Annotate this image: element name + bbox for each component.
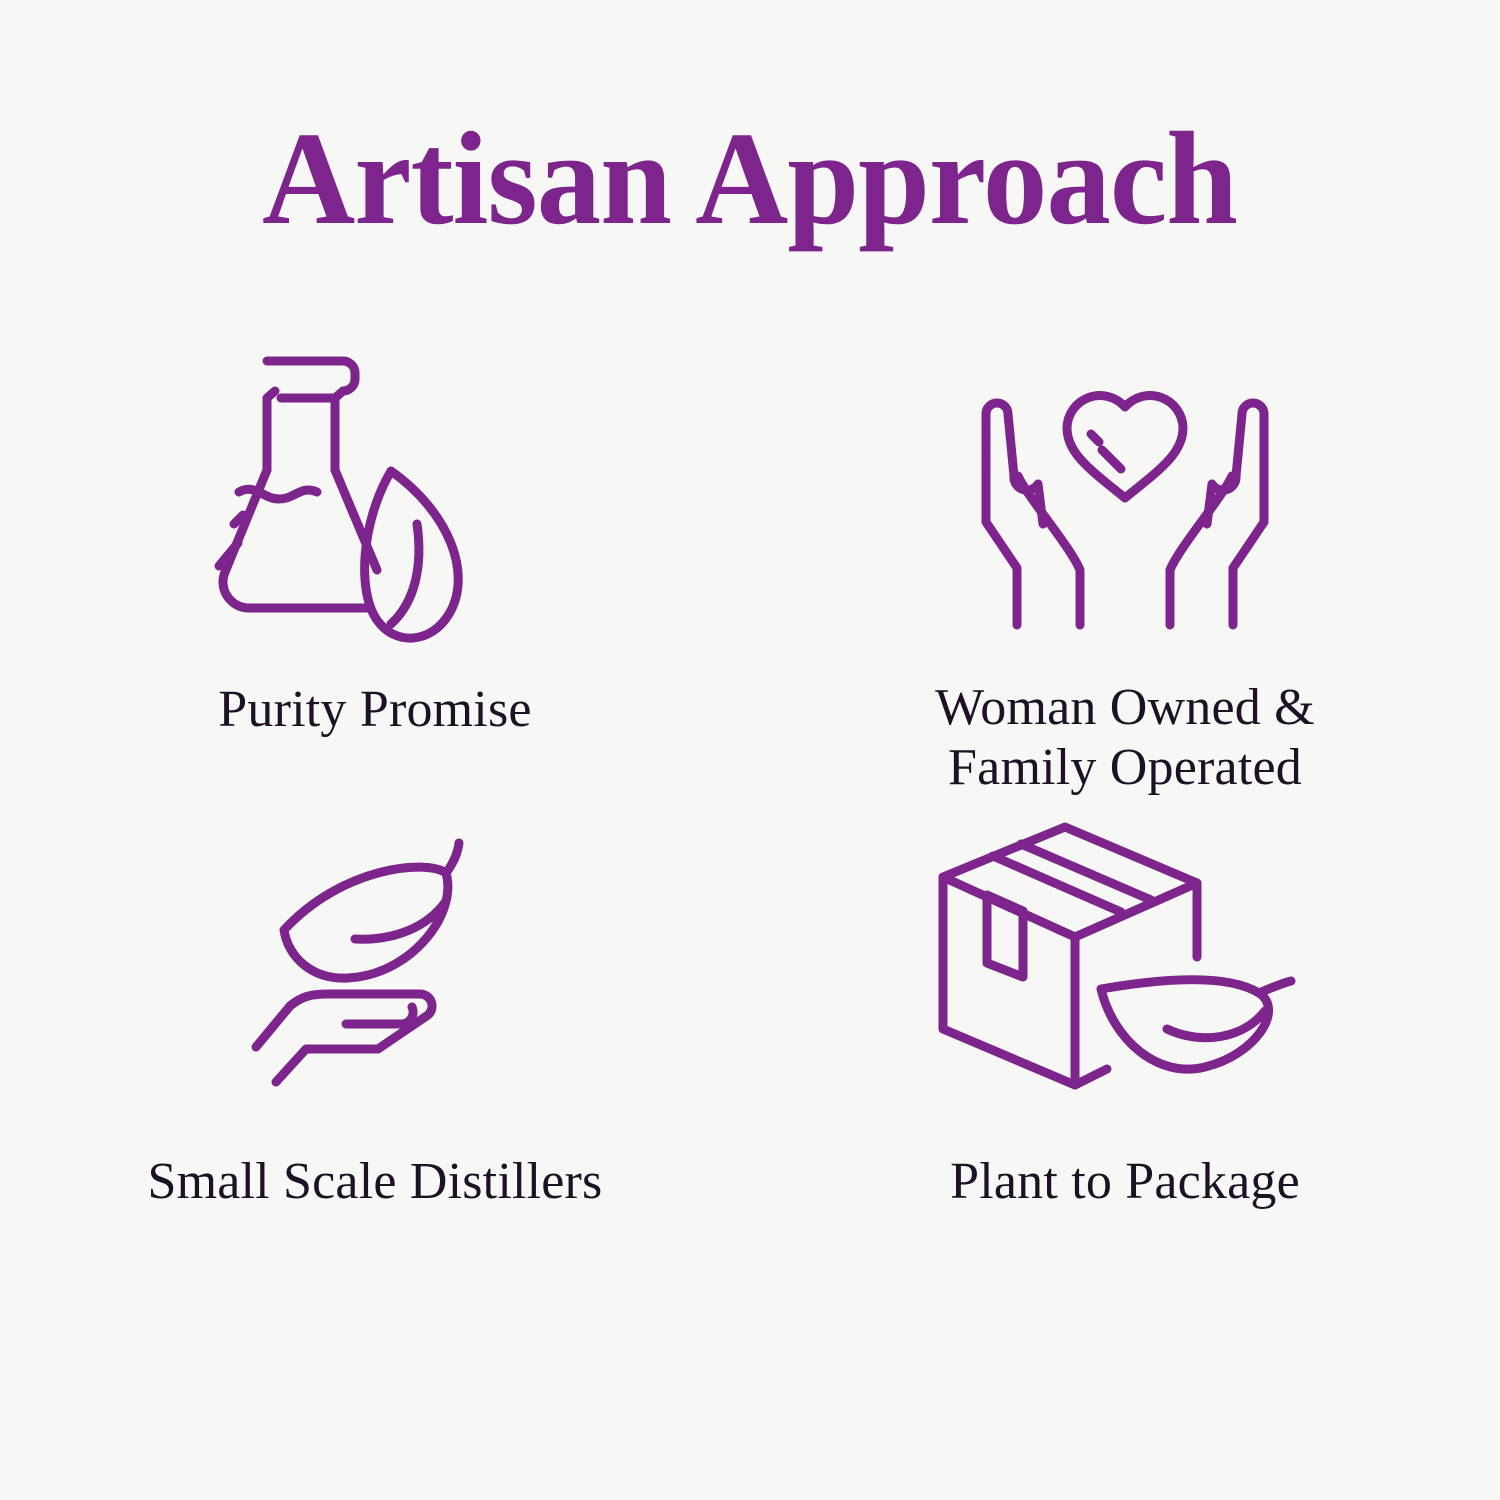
flask-leaf-icon [235, 352, 515, 652]
feature-icon-container [235, 352, 515, 652]
feature-grid: Purity Promise [0, 352, 1500, 1292]
hands-heart-icon [960, 372, 1290, 632]
feature-icon-container [960, 352, 1290, 652]
box-leaf-icon [925, 817, 1325, 1117]
page-title: Artisan Approach [263, 112, 1238, 245]
feature-icon-container [925, 822, 1325, 1112]
feature-item-purity-promise: Purity Promise [0, 352, 750, 822]
artisan-approach-infographic: Artisan Approach [0, 0, 1500, 1500]
feature-label-small-scale-distillers: Small Scale Distillers [147, 1152, 602, 1212]
feature-icon-container [250, 822, 500, 1112]
feature-label-plant-to-package: Plant to Package [950, 1152, 1300, 1212]
feature-label-woman-owned: Woman Owned & Family Operated [935, 678, 1315, 799]
feature-item-small-scale-distillers: Small Scale Distillers [0, 822, 750, 1292]
feature-label-purity-promise: Purity Promise [218, 680, 531, 740]
feature-item-plant-to-package: Plant to Package [750, 822, 1500, 1292]
leaf-in-hand-icon [250, 835, 500, 1100]
feature-item-woman-owned: Woman Owned & Family Operated [750, 352, 1500, 822]
page-title-container: Artisan Approach [0, 112, 1500, 245]
